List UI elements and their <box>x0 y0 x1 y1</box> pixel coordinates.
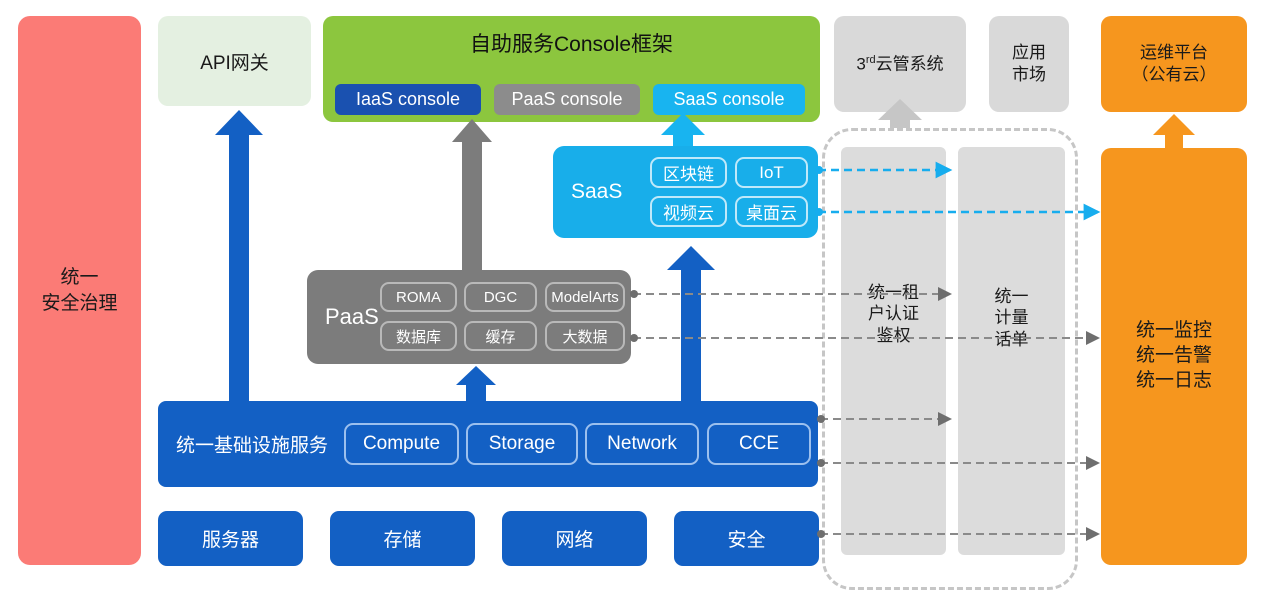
console-item-iaas-label: IaaS console <box>356 89 460 110</box>
hardware-card-network-label: 网络 <box>555 525 593 552</box>
saas-chip-iot-label: IoT <box>759 163 784 183</box>
security-governance-label: 统一 安全治理 <box>41 265 117 316</box>
paas-chip-cache[interactable]: 缓存 <box>464 321 537 351</box>
arrow-paas-to-console <box>452 119 492 270</box>
api-gateway-label: API网关 <box>200 48 269 75</box>
arrow-zone-to-ops-platform <box>1153 114 1195 148</box>
unified-metering-line2: 计量 <box>958 307 1065 328</box>
unified-metering-line3: 话单 <box>958 329 1065 350</box>
console-item-iaas[interactable]: IaaS console <box>335 84 481 115</box>
monitoring-line2: 统一告警 <box>1136 344 1212 369</box>
monitoring-label: 统一监控 统一告警 统一日志 <box>1136 319 1212 393</box>
infrastructure-chip-compute[interactable]: Compute <box>344 423 459 465</box>
arrow-infra-to-paas <box>456 366 496 401</box>
paas-chip-database[interactable]: 数据库 <box>380 321 457 351</box>
saas-chip-blockchain[interactable]: 区块链 <box>650 157 727 188</box>
app-market-line2: 市场 <box>1012 64 1046 86</box>
unified-metering-column[interactable] <box>958 147 1065 555</box>
api-gateway-card[interactable]: API网关 <box>158 16 311 106</box>
unified-auth-label: 统一租 户认证 鉴权 <box>841 282 946 346</box>
console-item-paas-label: PaaS console <box>511 89 622 110</box>
paas-chip-roma-label: ROMA <box>396 289 441 306</box>
infrastructure-panel[interactable]: 统一基础设施服务 Compute Storage Network CCE <box>158 401 818 487</box>
saas-chip-video-cloud[interactable]: 视频云 <box>650 196 727 227</box>
third-party-sup: rd <box>866 54 876 66</box>
unified-metering-label: 统一 计量 话单 <box>958 286 1065 350</box>
saas-chip-blockchain-label: 区块链 <box>663 160 714 185</box>
hardware-card-network[interactable]: 网络 <box>502 511 647 566</box>
paas-chip-cache-label: 缓存 <box>485 326 515 347</box>
saas-chip-iot[interactable]: IoT <box>735 157 808 188</box>
paas-chip-database-label: 数据库 <box>396 326 441 347</box>
saas-chip-desktop-cloud-label: 桌面云 <box>746 199 797 224</box>
infrastructure-label: 统一基础设施服务 <box>176 431 328 458</box>
third-party-cloud-mgmt-label: 3rd云管系统 <box>856 53 943 76</box>
saas-chip-desktop-cloud[interactable]: 桌面云 <box>735 196 808 227</box>
arrow-infra-to-api-gateway <box>215 110 263 401</box>
paas-label: PaaS <box>325 304 379 330</box>
monitoring-line1: 统一监控 <box>1136 319 1212 344</box>
third-party-prefix: 3 <box>856 54 865 73</box>
hardware-card-storage[interactable]: 存储 <box>330 511 475 566</box>
architecture-diagram: 统一 安全治理 API网关 自助服务Console框架 IaaS console… <box>0 0 1265 605</box>
paas-chip-dgc-label: DGC <box>484 289 517 306</box>
console-item-saas[interactable]: SaaS console <box>653 84 805 115</box>
infrastructure-chip-storage-label: Storage <box>489 433 556 455</box>
app-market-card[interactable]: 应用 市场 <box>989 16 1069 112</box>
infrastructure-chip-network[interactable]: Network <box>585 423 699 465</box>
saas-panel[interactable]: SaaS 区块链 IoT 视频云 桌面云 <box>553 146 818 238</box>
infrastructure-chip-cce-label: CCE <box>739 433 779 455</box>
third-party-cloud-mgmt-card[interactable]: 3rd云管系统 <box>834 16 966 112</box>
unified-auth-line3: 鉴权 <box>841 325 946 346</box>
hardware-card-security-label: 安全 <box>727 525 765 552</box>
infrastructure-chip-cce[interactable]: CCE <box>707 423 811 465</box>
ops-platform-label: 运维平台 （公有云） <box>1132 42 1217 86</box>
hardware-card-storage-label: 存储 <box>383 525 421 552</box>
console-item-saas-label: SaaS console <box>673 89 784 110</box>
monitoring-panel[interactable]: 统一监控 统一告警 统一日志 <box>1101 148 1247 565</box>
infrastructure-chip-compute-label: Compute <box>363 433 440 455</box>
paas-chip-modelarts[interactable]: ModelArts <box>545 282 625 312</box>
paas-chip-roma[interactable]: ROMA <box>380 282 457 312</box>
paas-chip-bigdata[interactable]: 大数据 <box>545 321 625 351</box>
app-market-line1: 应用 <box>1012 42 1046 64</box>
ops-platform-line1: 运维平台 <box>1132 42 1217 64</box>
saas-label: SaaS <box>571 180 622 204</box>
saas-chip-video-cloud-label: 视频云 <box>663 199 714 224</box>
security-governance-line2: 安全治理 <box>41 291 117 317</box>
ops-platform-line2: （公有云） <box>1132 64 1217 86</box>
security-governance-line1: 统一 <box>41 265 117 291</box>
console-framework-panel[interactable]: 自助服务Console框架 IaaS console PaaS console … <box>323 16 820 122</box>
arrow-infra-to-saas <box>667 246 715 401</box>
ops-platform-card[interactable]: 运维平台 （公有云） <box>1101 16 1247 112</box>
unified-auth-column[interactable] <box>841 147 946 555</box>
paas-chip-modelarts-label: ModelArts <box>551 289 619 306</box>
paas-chip-dgc[interactable]: DGC <box>464 282 537 312</box>
app-market-label: 应用 市场 <box>1012 42 1046 86</box>
security-governance-panel[interactable]: 统一 安全治理 <box>18 16 141 565</box>
hardware-card-server-label: 服务器 <box>202 525 259 552</box>
monitoring-line3: 统一日志 <box>1136 369 1212 394</box>
paas-panel[interactable]: PaaS ROMA DGC ModelArts 数据库 缓存 大数据 <box>307 270 631 364</box>
paas-chip-bigdata-label: 大数据 <box>562 326 607 347</box>
infrastructure-chip-network-label: Network <box>607 433 677 455</box>
unified-auth-line1: 统一租 <box>841 282 946 303</box>
console-item-paas[interactable]: PaaS console <box>494 84 640 115</box>
hardware-card-security[interactable]: 安全 <box>674 511 819 566</box>
console-framework-title: 自助服务Console框架 <box>323 28 820 58</box>
infrastructure-chip-storage[interactable]: Storage <box>466 423 578 465</box>
unified-auth-line2: 户认证 <box>841 303 946 324</box>
hardware-card-server[interactable]: 服务器 <box>158 511 303 566</box>
third-party-rest: 云管系统 <box>876 54 944 73</box>
unified-metering-line1: 统一 <box>958 286 1065 307</box>
